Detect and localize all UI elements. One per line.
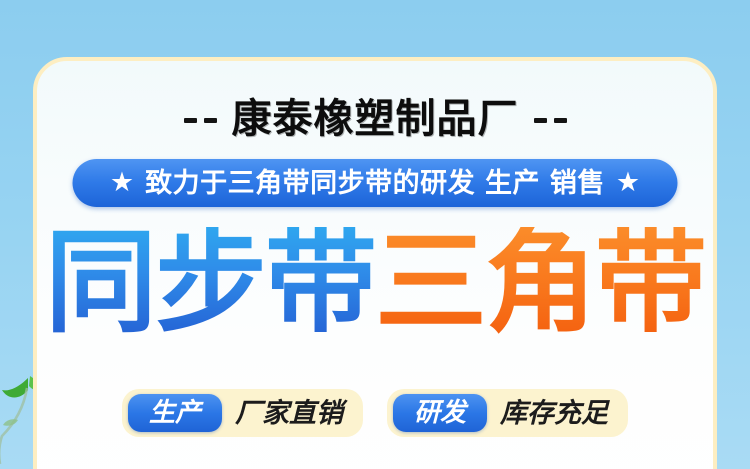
ribbon-swoosh-icon bbox=[545, 465, 695, 469]
star-right-icon: ★ bbox=[616, 169, 640, 196]
tag-pill-label: 生产 bbox=[149, 400, 201, 426]
feature-tag-production: 生产 厂家直销 bbox=[122, 389, 363, 437]
tag-pill-rnd: 研发 bbox=[393, 394, 487, 432]
feature-tag-list: 生产 厂家直销 研发 库存充足 bbox=[37, 389, 713, 437]
dash-right-icon bbox=[534, 118, 567, 123]
page-title: 康泰橡塑制品厂 bbox=[232, 99, 519, 139]
slogan-banner: ★ 致力于三角带同步带的研发 生产 销售 ★ bbox=[73, 159, 678, 207]
slogan-text: 致力于三角带同步带的研发 生产 销售 bbox=[145, 170, 605, 197]
headline-part-orange: 三角带 bbox=[375, 227, 705, 339]
tag-pill-production: 生产 bbox=[128, 394, 222, 432]
tag-pill-label: 研发 bbox=[414, 400, 466, 426]
headline: 同步带 三角带 bbox=[37, 227, 713, 339]
promo-card: 康泰橡塑制品厂 ★ 致力于三角带同步带的研发 生产 销售 ★ 同步带 三角带 生… bbox=[33, 57, 717, 469]
headline-part-blue: 同步带 bbox=[45, 227, 375, 339]
tag-text-production: 厂家直销 bbox=[235, 400, 343, 427]
brand-title-row: 康泰橡塑制品厂 bbox=[37, 99, 713, 139]
tag-text-rnd: 库存充足 bbox=[500, 400, 608, 427]
star-left-icon: ★ bbox=[110, 169, 134, 196]
feature-tag-rnd: 研发 库存充足 bbox=[387, 389, 628, 437]
dash-left-icon bbox=[184, 118, 217, 123]
